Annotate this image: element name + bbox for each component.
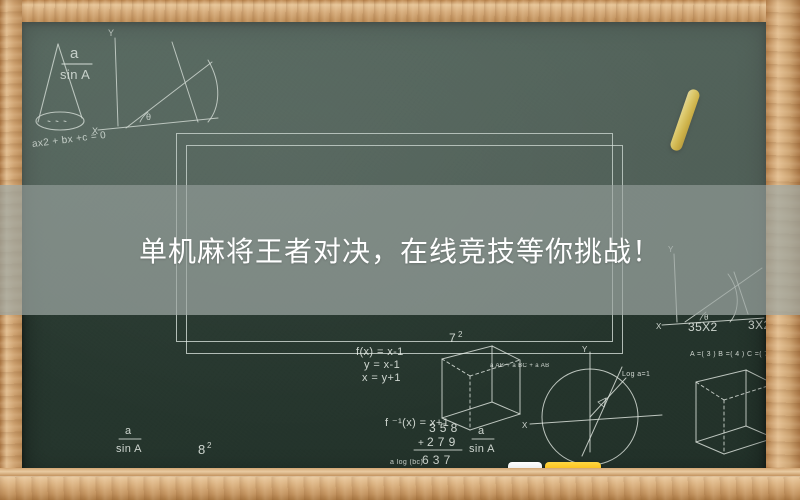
- chalk-ledge: [0, 476, 800, 500]
- chalk-ledge-lip: [0, 468, 800, 476]
- headline-text: 单机麻将王者对决，在线竞技等你挑战！: [0, 185, 800, 315]
- wood-frame-top: [0, 0, 800, 22]
- banner-image: a sin A ax2 + bx +c = 0 Y X: [0, 0, 800, 500]
